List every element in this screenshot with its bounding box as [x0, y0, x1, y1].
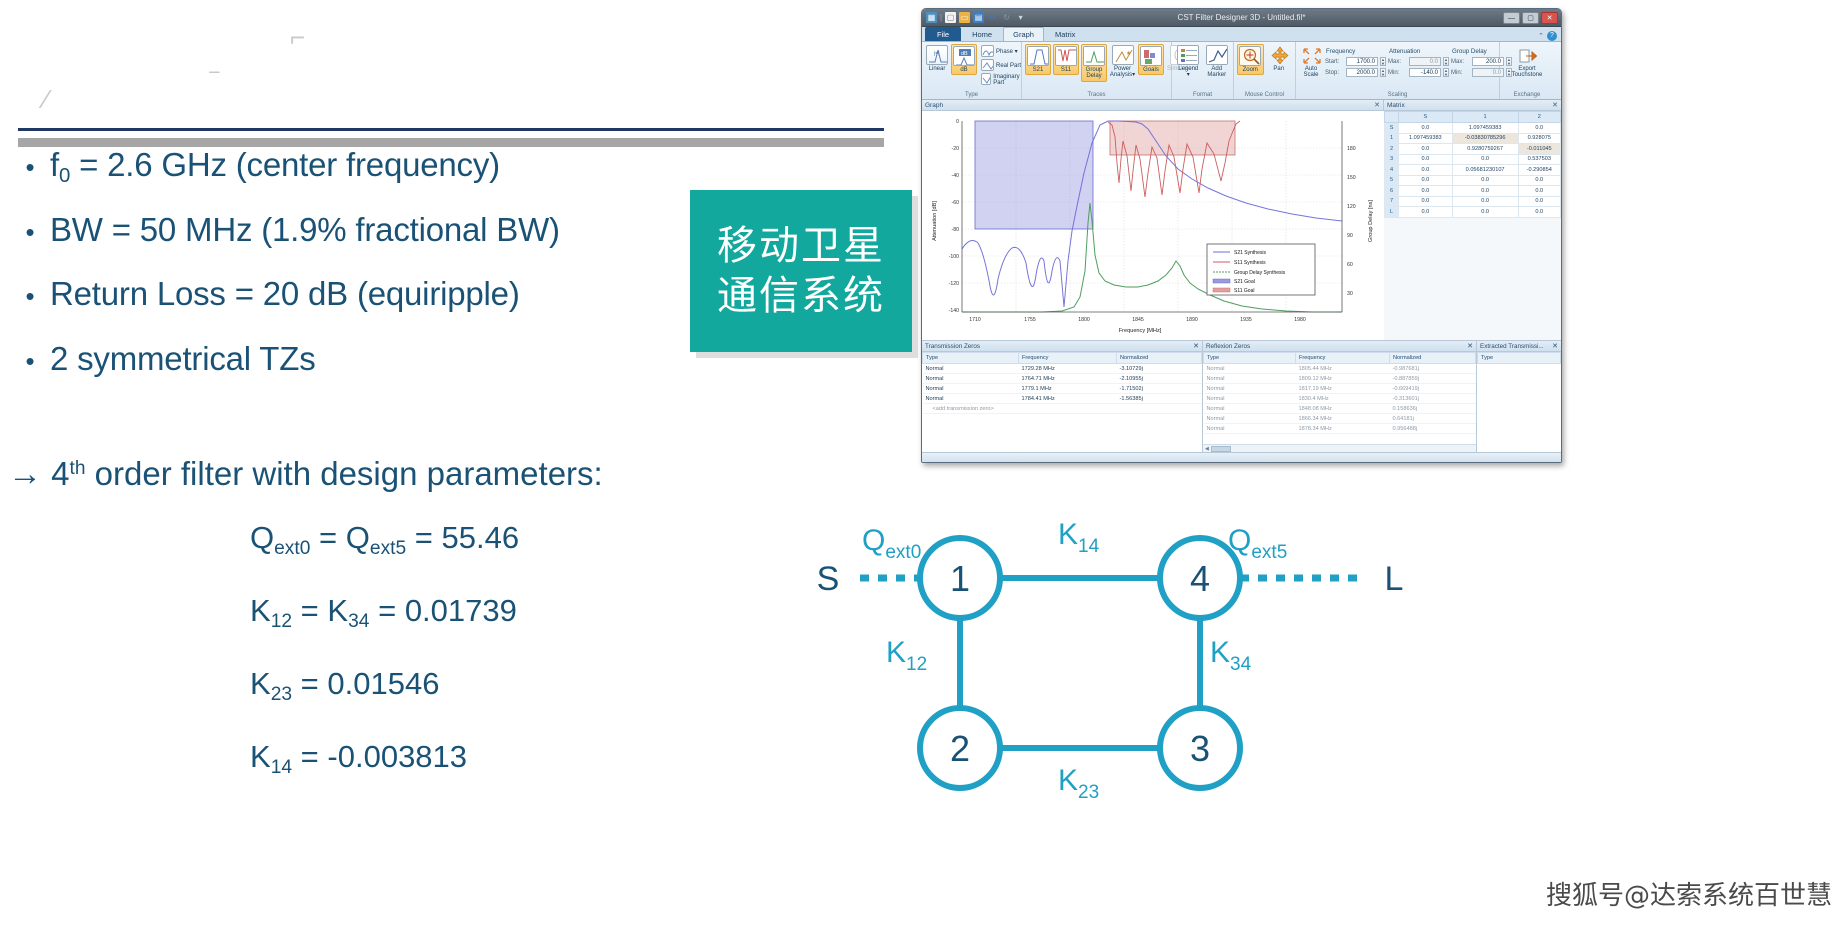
table-row[interactable]: 50.00.00.0 [1385, 175, 1561, 186]
cell[interactable]: 0.0 [1452, 207, 1518, 218]
frequency-start-spinner[interactable]: ▲▼ [1380, 57, 1386, 66]
table-row[interactable]: Normal1729.28 MHz-3.10729j [923, 364, 1202, 374]
svg-text:1710: 1710 [969, 317, 981, 323]
btn-imaginary-part[interactable]: Imaginary Part [979, 73, 1024, 86]
cell[interactable]: Normal [1204, 374, 1296, 384]
field-group-frequency: Frequency Start: 1700.0 ▲▼ Stop: 2000.0 … [1325, 44, 1386, 77]
ribbon-group-format-label: Format [1175, 92, 1230, 99]
scroll-thumb[interactable] [1211, 446, 1231, 452]
save-icon[interactable]: ▤ [973, 12, 984, 23]
table-header-row: Type Frequency Normalized [1204, 353, 1476, 364]
zoom-icon [1239, 46, 1261, 66]
ribbon-group-scaling: Auto Scale Frequency Start: 1700.0 ▲▼ St… [1296, 42, 1500, 99]
ribbon-group-traces-label: Traces [1025, 92, 1168, 99]
matrix-pane-close-icon[interactable]: ✕ [1552, 101, 1558, 109]
s21-icon [1027, 46, 1049, 66]
btn-s11[interactable]: S11 [1053, 44, 1079, 75]
ribbon-group-mouse-control: Zoom Pan Mouse Control [1234, 42, 1296, 99]
table-row[interactable]: S0.01.0974593830.0 [1385, 123, 1561, 134]
graph-pane-title: Graph [925, 102, 943, 109]
transmission-zeros-title: Transmission Zeros [925, 343, 980, 350]
cell[interactable]: 1878.34 MHz [1296, 424, 1390, 434]
callout-line-2: 通信系统 [717, 271, 885, 321]
btn-add-marker-label: Add Marker [1205, 66, 1230, 79]
btn-goals-label: Goals [1143, 67, 1159, 73]
cell[interactable]: 0.05681230107 [1452, 165, 1518, 176]
list-item: • BW = 50 MHz (1.9% fractional BW) [10, 213, 710, 248]
cell[interactable]: -0.011045 [1518, 144, 1560, 155]
ribbon[interactable]: |=| Linear dB dB Phase ▾ [922, 42, 1561, 100]
ribbon-group-format: Legend ▾ Add Marker Format [1172, 42, 1234, 99]
reflexion-hscrollbar[interactable]: ◀ [1203, 444, 1476, 452]
coupling-topology-diagram: 1 4 2 3 S L Qext0 K14 Qext5 K12 K34 K23 [800, 500, 1440, 934]
close-icon[interactable]: ✕ [1541, 12, 1558, 24]
window-titlebar[interactable]: ▦ | ▢ ▭ ▤ ↺ ↻ ▾ CST Filter Designer 3D -… [922, 9, 1561, 27]
svg-text:1755: 1755 [1024, 317, 1036, 323]
app-icon[interactable]: ▦ [926, 12, 937, 23]
chart-legend: S21 Synthesis S11 Synthesis Group Delay … [1207, 244, 1315, 295]
cell[interactable]: 0.158636j [1390, 404, 1476, 414]
attenuation-max-spinner[interactable]: ▲▼ [1443, 57, 1449, 66]
conclusion-rest: order filter with design parameters: [85, 455, 602, 492]
cell[interactable]: -0.03830785296 [1452, 133, 1518, 144]
transmission-zeros-pane: Transmission Zeros ✕ Type Frequency Norm… [922, 341, 1203, 452]
redo-icon[interactable]: ↻ [1001, 12, 1012, 23]
add-transmission-zero-cell[interactable]: <add transmission zero> [923, 404, 1202, 414]
transmission-zeros-table[interactable]: Type Frequency Normalized Normal1729.28 … [922, 352, 1202, 414]
table-row[interactable]: Normal1866.34 MHz0.64181j [1204, 414, 1476, 424]
cell[interactable]: Normal [1204, 404, 1296, 414]
s11-icon [1055, 46, 1077, 66]
chart-xlabel: Frequency [MHz] [1119, 328, 1162, 334]
cell[interactable]: 0.0 [1399, 123, 1453, 134]
tab-graph[interactable]: Graph [1003, 27, 1044, 41]
cell[interactable]: 0.0 [1452, 175, 1518, 186]
svg-text:-80: -80 [952, 227, 960, 233]
ribbon-help-area[interactable]: ⌃ ? [1538, 31, 1561, 41]
param-k23: K23 = 0.01546 [250, 666, 519, 702]
bullet-marker: • [10, 219, 50, 246]
attenuation-min-spinner[interactable]: ▲▼ [1443, 68, 1449, 77]
cell[interactable]: 1866.34 MHz [1296, 414, 1390, 424]
cell[interactable]: 0.0 [1399, 196, 1453, 207]
svg-text:120: 120 [1347, 204, 1356, 210]
cell[interactable]: -0.987681j [1390, 364, 1476, 374]
cell[interactable]: 0.0 [1518, 186, 1560, 197]
row-header: L [1385, 207, 1399, 218]
svg-text:1890: 1890 [1186, 317, 1198, 323]
decor-mark-left: ⁄ [44, 84, 48, 115]
cell[interactable]: Normal [1204, 394, 1296, 404]
frequency-stop-input[interactable]: 2000.0 [1346, 68, 1378, 77]
btn-add-marker[interactable]: Add Marker [1204, 44, 1231, 80]
help-icon[interactable]: ? [1547, 31, 1557, 41]
bullet-text: BW = 50 MHz (1.9% fractional BW) [50, 213, 560, 248]
bottom-tables: Transmission Zeros ✕ Type Frequency Norm… [922, 340, 1561, 452]
table-row[interactable]: Normal1805.44 MHz-0.987681j [1204, 364, 1476, 374]
chart-y2label: Group Delay [ns] [1368, 200, 1374, 242]
btn-db[interactable]: dB dB [951, 44, 977, 75]
btn-phase-label: Phase ▾ [996, 48, 1018, 55]
cell[interactable]: Normal [1204, 364, 1296, 374]
cell[interactable]: 1848.08 MHz [1296, 404, 1390, 414]
attenuation-max-row[interactable]: Max: 0.0 ▲▼ [1388, 57, 1449, 66]
conclusion-ordinal: th [70, 458, 86, 479]
reflexion-zeros-pane: Reflexion Zeros ✕ Type Frequency Normali… [1203, 341, 1477, 452]
cell[interactable]: 0.0 [1399, 154, 1453, 165]
svg-text:S21 Goal: S21 Goal [1234, 279, 1255, 285]
matrix-corner [1385, 112, 1399, 123]
svg-text:-40: -40 [952, 173, 960, 179]
svg-text:150: 150 [1347, 175, 1356, 181]
cell[interactable]: 0.0 [1518, 175, 1560, 186]
graph-pane-close-icon[interactable]: ✕ [1374, 101, 1380, 109]
real-part-icon [981, 59, 994, 71]
export-icon [1516, 45, 1538, 65]
matrix-col-1[interactable]: 1 [1452, 112, 1518, 123]
ribbon-group-scaling-label: Scaling [1299, 92, 1496, 99]
group-delay-min-label: Min: [1451, 70, 1470, 76]
node-2-label: 2 [950, 728, 970, 769]
quick-access-toolbar[interactable]: ▦ | ▢ ▭ ▤ ↺ ↻ ▾ [922, 12, 1026, 23]
table-row[interactable]: Normal1779.1 MHz-1.71502j [923, 384, 1202, 394]
matrix-pane-caption[interactable]: Matrix ✕ [1384, 100, 1561, 111]
goals-icon [1140, 46, 1162, 66]
bullet-marker: • [10, 154, 50, 181]
table-row[interactable]: 40.00.05681230107-0.290854 [1385, 165, 1561, 176]
group-delay-icon [1083, 46, 1105, 66]
cell[interactable]: 1.097459383 [1452, 123, 1518, 134]
cell[interactable]: 0.0 [1518, 123, 1560, 134]
status-bar [922, 452, 1561, 462]
btn-export-touchstone[interactable]: Export Touchstone [1504, 44, 1550, 80]
cell[interactable]: 0.0 [1518, 207, 1560, 218]
node-4-label: 4 [1190, 558, 1210, 599]
cell[interactable]: Normal [923, 374, 1019, 384]
matrix-pane-title: Matrix [1387, 102, 1405, 109]
ribbon-group-exchange: Export Touchstone Exchange [1500, 42, 1554, 99]
cell[interactable]: 1729.28 MHz [1019, 364, 1117, 374]
param-qext: Qext0 = Qext5 = 55.46 [250, 520, 519, 556]
callout-box: 移动卫星 通信系统 [690, 190, 912, 352]
svg-text:★: ★ [1126, 50, 1131, 57]
db-icon: dB [953, 46, 975, 66]
cell[interactable]: 0.0 [1399, 144, 1453, 155]
decor-mark-top: ⌐ [290, 22, 305, 53]
btn-legend-label: Legend ▾ [1176, 66, 1201, 79]
cell[interactable]: Normal [1204, 384, 1296, 394]
btn-zoom[interactable]: Zoom [1237, 44, 1264, 75]
matrix-col-2[interactable]: 2 [1518, 112, 1560, 123]
btn-db-label: dB [960, 67, 967, 73]
table-row[interactable]: Normal1830.4 MHz-0.313601j [1204, 394, 1476, 404]
cell[interactable]: -3.10729j [1117, 364, 1202, 374]
row-header: 3 [1385, 154, 1399, 165]
slide-divider-accent [18, 128, 884, 131]
bullet-marker: • [10, 348, 50, 375]
table-row[interactable]: L0.00.00.0 [1385, 207, 1561, 218]
cell[interactable]: 0.0 [1518, 196, 1560, 207]
row-header: 2 [1385, 144, 1399, 155]
svg-text:S21 Synthesis: S21 Synthesis [1234, 250, 1266, 256]
attenuation-max-label: Max: [1388, 59, 1407, 65]
btn-export-touchstone-label: Export Touchstone [1505, 66, 1549, 79]
transmission-zeros-close-icon[interactable]: ✕ [1193, 342, 1199, 350]
cell[interactable]: -2.10955j [1117, 374, 1202, 384]
extracted-table[interactable]: Type [1477, 352, 1561, 364]
svg-text:-120: -120 [949, 281, 959, 287]
reflexion-zeros-table[interactable]: Type Frequency Normalized Normal1805.44 … [1203, 352, 1476, 434]
table-row[interactable]: Normal1764.71 MHz-2.10955j [923, 374, 1202, 384]
linear-icon: |=| [926, 45, 948, 65]
tab-file[interactable]: File [925, 27, 961, 41]
tz-col-normalized[interactable]: Normalized [1117, 353, 1202, 364]
btn-real-part[interactable]: Real Part [979, 59, 1024, 72]
frequency-start-row[interactable]: Start: 1700.0 ▲▼ [1325, 57, 1386, 66]
imaginary-part-icon [981, 73, 991, 85]
table-row[interactable]: Normal1784.41 MHz-1.56385j [923, 394, 1202, 404]
ribbon-group-mouse-control-label: Mouse Control [1237, 92, 1292, 99]
cell[interactable]: 0.9280759267 [1452, 144, 1518, 155]
attenuation-min-row[interactable]: Min: -140.0 ▲▼ [1388, 68, 1449, 77]
chart-ylabel: Attenuation [dB] [932, 201, 938, 241]
cell[interactable]: 0.0 [1399, 186, 1453, 197]
svg-text:dB: dB [961, 51, 968, 57]
frequency-stop-row[interactable]: Stop: 2000.0 ▲▼ [1325, 68, 1386, 77]
field-group-attenuation: Attenuation Max: 0.0 ▲▼ Min: -140.0 ▲▼ [1388, 44, 1449, 77]
svg-text:180: 180 [1347, 146, 1356, 152]
undo-icon[interactable]: ↺ [987, 12, 998, 23]
btn-legend[interactable]: Legend ▾ [1175, 44, 1202, 80]
cell[interactable]: -0.290854 [1518, 165, 1560, 176]
svg-text:1845: 1845 [1132, 317, 1144, 323]
param-k14: K14 = -0.003813 [250, 739, 519, 775]
node-3-label: 3 [1190, 728, 1210, 769]
reflexion-zeros-close-icon[interactable]: ✕ [1467, 342, 1473, 350]
list-item: • 2 symmetrical TZs [10, 342, 710, 377]
ribbon-group-type: |=| Linear dB dB Phase ▾ [922, 42, 1022, 99]
table-row[interactable]: Normal1809.12 MHz-0.887859j [1204, 374, 1476, 384]
table-row[interactable]: Normal1878.34 MHz0.956488j [1204, 424, 1476, 434]
svg-text:1800: 1800 [1078, 317, 1090, 323]
btn-phase[interactable]: Phase ▾ [979, 45, 1024, 58]
btn-real-part-label: Real Part [996, 63, 1021, 69]
svg-text:S11 Goal: S11 Goal [1234, 288, 1254, 294]
rz-col-frequency[interactable]: Frequency [1296, 353, 1390, 364]
cell[interactable]: 0.956488j [1390, 424, 1476, 434]
cell[interactable]: 0.0 [1399, 175, 1453, 186]
transmission-zeros-caption[interactable]: Transmission Zeros ✕ [922, 341, 1202, 352]
cell[interactable]: 1.097459383 [1399, 133, 1453, 144]
cell[interactable]: 1805.44 MHz [1296, 364, 1390, 374]
label-k23: K23 [1058, 764, 1099, 803]
bullet-text: f0 = 2.6 GHz (center frequency) [50, 148, 500, 183]
svg-text:30: 30 [1347, 291, 1353, 297]
new-icon[interactable]: ▢ [945, 12, 956, 23]
reflexion-zeros-title: Reflexion Zeros [1206, 343, 1250, 350]
btn-auto-scale[interactable]: Auto Scale [1299, 44, 1323, 80]
matrix-col-s[interactable]: S [1399, 112, 1453, 123]
cell[interactable]: Normal [923, 384, 1019, 394]
cell[interactable]: 1784.41 MHz [1019, 394, 1117, 404]
table-row[interactable]: 20.00.9280759267-0.011045 [1385, 144, 1561, 155]
table-row[interactable]: 60.00.00.0 [1385, 186, 1561, 197]
table-row[interactable]: 30.00.00.537503 [1385, 154, 1561, 165]
cell[interactable]: 0.0 [1452, 186, 1518, 197]
cell[interactable]: Normal [1204, 424, 1296, 434]
terminal-load-label: L [1385, 560, 1404, 598]
svg-text:1980: 1980 [1294, 317, 1306, 323]
svg-text:-20: -20 [952, 146, 960, 152]
bullet-text: 2 symmetrical TZs [50, 342, 316, 377]
btn-power-analysis[interactable]: ★ Power Analysis▾ [1109, 44, 1136, 80]
list-item: • Return Loss = 20 dB (equiripple) [10, 277, 710, 312]
extracted-close-icon[interactable]: ✕ [1552, 342, 1558, 350]
conclusion-line: → 4th order filter with design parameter… [8, 455, 603, 494]
cell[interactable]: 0.0 [1399, 207, 1453, 218]
table-row[interactable]: Normal1817.19 MHz-0.669419j [1204, 384, 1476, 394]
table-header-row: S 1 2 [1385, 112, 1561, 123]
customize-icon[interactable]: ▾ [1015, 12, 1026, 23]
cell[interactable]: 0.0 [1452, 196, 1518, 207]
table-row[interactable]: 70.00.00.0 [1385, 196, 1561, 207]
cst-application-window: ▦ | ▢ ▭ ▤ ↺ ↻ ▾ CST Filter Designer 3D -… [921, 8, 1562, 463]
svg-text:-60: -60 [952, 200, 960, 206]
extracted-caption[interactable]: Extracted Transmissi... ✕ [1477, 341, 1561, 352]
attenuation-label: Attenuation [1388, 48, 1449, 55]
cell[interactable]: 1779.1 MHz [1019, 384, 1117, 394]
btn-s21-label: S21 [1033, 67, 1044, 73]
svg-text:1935: 1935 [1240, 317, 1252, 323]
cell[interactable]: 0.0 [1452, 154, 1518, 165]
cell[interactable]: 1817.19 MHz [1296, 384, 1390, 394]
cell[interactable]: 0.0 [1399, 165, 1453, 176]
extracted-transmission-pane: Extracted Transmissi... ✕ Type [1477, 341, 1561, 452]
cell[interactable]: 1809.12 MHz [1296, 374, 1390, 384]
cell[interactable]: -0.313601j [1390, 394, 1476, 404]
cell[interactable]: 0.64181j [1390, 414, 1476, 424]
cell[interactable]: -1.71502j [1117, 384, 1202, 394]
phase-icon [981, 45, 994, 57]
btn-linear-label: Linear [929, 66, 946, 72]
btn-imaginary-part-label: Imaginary Part [993, 74, 1022, 86]
param-k12-k34: K12 = K34 = 0.01739 [250, 593, 519, 629]
ribbon-group-type-label: Type [925, 92, 1018, 99]
btn-pan-label: Pan [1273, 66, 1284, 72]
watermark: 搜狐号@达索系统百世慧 [1546, 875, 1832, 912]
row-header: 6 [1385, 186, 1399, 197]
btn-linear[interactable]: |=| Linear [925, 44, 949, 73]
table-row[interactable]: Normal1848.08 MHz0.158636j [1204, 404, 1476, 414]
type-options-stack[interactable]: Phase ▾ Real Part Imaginary Part [979, 44, 1024, 86]
label-k34: K34 [1210, 636, 1252, 675]
conclusion-number: 4 [51, 455, 69, 492]
svg-text:90: 90 [1347, 233, 1353, 239]
btn-goals[interactable]: Goals [1138, 44, 1164, 75]
window-controls[interactable]: — ▢ ✕ [1503, 12, 1561, 24]
frequency-stop-label: Stop: [1325, 70, 1344, 76]
cell[interactable]: 1830.4 MHz [1296, 394, 1390, 404]
svg-text:Group Delay Synthesis: Group Delay Synthesis [1234, 270, 1286, 276]
svg-text:0: 0 [956, 119, 959, 125]
cell[interactable]: 1764.71 MHz [1019, 374, 1117, 384]
ribbon-tabs[interactable]: File Home Graph Matrix ⌃ ? [922, 27, 1561, 42]
arrow-icon: → [8, 455, 42, 493]
collapse-ribbon-icon[interactable]: ⌃ [1538, 32, 1544, 40]
cell[interactable]: Normal [923, 364, 1019, 374]
frequency-start-label: Start: [1325, 59, 1344, 65]
bullet-text: Return Loss = 20 dB (equiripple) [50, 277, 520, 312]
rz-col-normalized[interactable]: Normalized [1390, 353, 1476, 364]
bullet-marker: • [10, 283, 50, 310]
terminal-source-label: S [817, 560, 840, 598]
table-row[interactable]: 11.097459383-0.038307852960.928075 [1385, 133, 1561, 144]
table-header-row: Type Frequency Normalized [923, 353, 1202, 364]
rz-col-type[interactable]: Type [1204, 353, 1296, 364]
tab-home[interactable]: Home [962, 27, 1002, 41]
btn-s21[interactable]: S21 [1025, 44, 1051, 75]
cell[interactable]: Normal [1204, 414, 1296, 424]
row-header: 4 [1385, 165, 1399, 176]
svg-text:60: 60 [1347, 262, 1353, 268]
cell[interactable]: -0.669419j [1390, 384, 1476, 394]
cell[interactable]: -0.887859j [1390, 374, 1476, 384]
extracted-title: Extracted Transmissi... [1480, 343, 1544, 350]
legend-icon [1177, 45, 1199, 65]
cell[interactable]: 0.928075 [1518, 133, 1560, 144]
node-1-label: 1 [950, 558, 970, 599]
cell[interactable]: Normal [923, 394, 1019, 404]
frequency-stop-spinner[interactable]: ▲▼ [1380, 68, 1386, 77]
svg-text:-140: -140 [949, 308, 959, 314]
minimize-icon[interactable]: — [1503, 12, 1520, 24]
attenuation-max-input[interactable]: 0.0 [1409, 57, 1441, 66]
open-icon[interactable]: ▭ [959, 12, 970, 23]
table-row-add[interactable]: <add transmission zero> [923, 404, 1202, 414]
ez-col-type[interactable]: Type [1478, 353, 1561, 364]
bullet-list: • f0 = 2.6 GHz (center frequency) • BW =… [10, 148, 710, 407]
btn-pan[interactable]: Pan [1266, 44, 1292, 73]
cell[interactable]: -1.56385j [1117, 394, 1202, 404]
btn-group-delay[interactable]: Group Delay [1081, 44, 1107, 82]
btn-auto-scale-label: Auto Scale [1300, 66, 1322, 79]
coupling-matrix-table[interactable]: S 1 2 S0.01.0974593830.0 11.097459383-0.… [1384, 111, 1561, 218]
callout-line-1: 移动卫星 [717, 221, 885, 271]
design-parameters: Qext0 = Qext5 = 55.46 K12 = K34 = 0.0173… [250, 520, 519, 812]
label-k12: K12 [886, 636, 927, 675]
frequency-start-input[interactable]: 1700.0 [1346, 57, 1378, 66]
cell[interactable]: 0.537503 [1518, 154, 1560, 165]
btn-group-delay-label: Group Delay [1083, 67, 1105, 80]
add-marker-icon [1206, 45, 1228, 65]
group-delay-max-label: Max: [1451, 59, 1470, 65]
tab-matrix[interactable]: Matrix [1045, 27, 1085, 41]
btn-zoom-label: Zoom [1243, 67, 1258, 73]
attenuation-min-input[interactable]: -140.0 [1409, 68, 1441, 77]
row-header: 1 [1385, 133, 1399, 144]
scroll-left-icon[interactable]: ◀ [1205, 446, 1209, 452]
row-header: 7 [1385, 196, 1399, 207]
tz-col-frequency[interactable]: Frequency [1019, 353, 1117, 364]
attenuation-min-label: Min: [1388, 70, 1407, 76]
row-header: S [1385, 123, 1399, 134]
svg-text:|=|: |=| [934, 51, 940, 57]
graph-pane-caption[interactable]: Graph ✕ [922, 100, 1383, 111]
reflexion-zeros-caption[interactable]: Reflexion Zeros ✕ [1203, 341, 1476, 352]
topology-svg: 1 4 2 3 S L Qext0 K14 Qext5 K12 K34 K23 [800, 500, 1440, 830]
tz-col-type[interactable]: Type [923, 353, 1019, 364]
maximize-icon[interactable]: ▢ [1522, 12, 1539, 24]
